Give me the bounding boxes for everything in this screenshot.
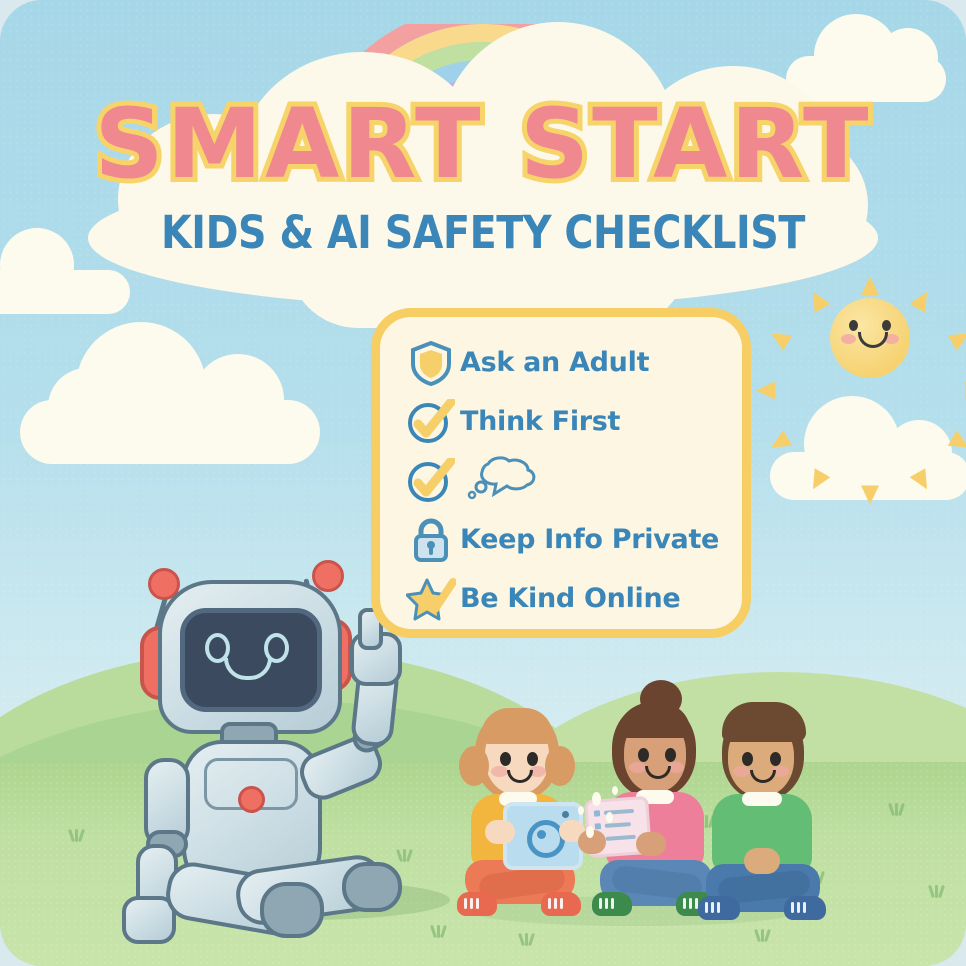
cloud-left	[20, 400, 320, 464]
hand-left	[485, 820, 515, 844]
checklist-item-label: Keep Info Private	[460, 524, 719, 555]
cheek-left	[733, 766, 750, 777]
sparkle	[612, 786, 618, 795]
hair-front	[722, 702, 806, 742]
sparkle	[606, 812, 613, 823]
checklist-item[interactable]: Ask an Adult	[402, 333, 742, 392]
eye-right	[527, 752, 538, 766]
sun-eye-left	[849, 320, 858, 331]
shoe-right	[541, 892, 581, 916]
sun-ray	[861, 486, 879, 505]
eye-right	[665, 748, 676, 762]
hair-front	[481, 708, 553, 744]
checklist-item-label: Be Kind Online	[460, 583, 680, 614]
check-circle-icon	[407, 399, 455, 445]
shoe-left	[457, 892, 497, 916]
checklist-item[interactable]	[402, 451, 742, 510]
grass-tuft	[890, 800, 904, 816]
sun-eye-right	[882, 320, 891, 331]
check-circle-icon	[402, 458, 460, 504]
pigtail-right	[545, 746, 575, 786]
poster-canvas: SMART START KIDS & AI SAFETY CHECKLIST	[0, 0, 966, 966]
grass-tuft	[756, 926, 770, 942]
eye-right	[770, 752, 781, 766]
collar	[742, 792, 782, 806]
cheek-left	[491, 766, 508, 777]
sun-ray	[756, 382, 775, 400]
robot-chest-button	[238, 786, 265, 813]
shoe-left	[592, 892, 632, 916]
grass-tuft	[432, 922, 446, 938]
check-circle-icon	[407, 458, 455, 504]
sparkle	[592, 792, 601, 806]
cheek-left	[629, 762, 646, 773]
kid-boy-green-shirt	[700, 690, 850, 926]
checklist-item[interactable]: Think First	[402, 392, 742, 451]
checklist-item[interactable]: Be Kind Online	[402, 569, 742, 628]
shield-icon	[402, 340, 460, 386]
eye-left	[500, 752, 511, 766]
sun-ray	[910, 287, 935, 312]
robot-antenna-right-tip	[312, 560, 344, 592]
lock-icon	[402, 517, 460, 563]
page-title: SMART START	[0, 96, 966, 192]
robot-foot-right	[342, 862, 402, 912]
shoe-right	[784, 896, 826, 920]
thought-bubble-icon	[466, 456, 542, 500]
checklist-item-label: Ask an Adult	[460, 347, 649, 378]
check-circle-icon	[402, 399, 460, 445]
thought-bubble-icon	[466, 456, 542, 505]
eye-left	[638, 748, 649, 762]
sun-icon	[808, 276, 932, 400]
shield-icon	[409, 340, 453, 386]
star-check-icon	[406, 576, 456, 622]
sun-ray	[805, 287, 830, 312]
eye-left	[742, 752, 753, 766]
pigtail-left	[459, 746, 489, 786]
grass-tuft	[930, 882, 944, 898]
hair-front	[620, 704, 690, 738]
checklist-items: Ask an AdultThink FirstKeep Info Private…	[402, 333, 742, 628]
checklist-item[interactable]: Keep Info Private	[402, 510, 742, 569]
hands	[744, 848, 780, 874]
checklist-item-label: Think First	[460, 406, 620, 437]
sparkle	[578, 806, 584, 815]
checklist-card: Ask an AdultThink FirstKeep Info Private…	[371, 308, 751, 638]
robot-foot-left	[260, 882, 324, 938]
sun-ray	[861, 277, 879, 296]
lock-icon	[411, 517, 451, 563]
grass-tuft	[70, 826, 84, 842]
sun-cheek-left	[841, 334, 856, 344]
star-check-icon	[402, 576, 460, 622]
hand-right	[636, 832, 666, 856]
page-subtitle: KIDS & AI SAFETY CHECKLIST	[58, 206, 908, 259]
headline-block: SMART START KIDS & AI SAFETY CHECKLIST	[0, 96, 966, 259]
sparkle	[586, 826, 594, 838]
grass-tuft	[520, 930, 534, 946]
shoe-left	[698, 896, 740, 920]
